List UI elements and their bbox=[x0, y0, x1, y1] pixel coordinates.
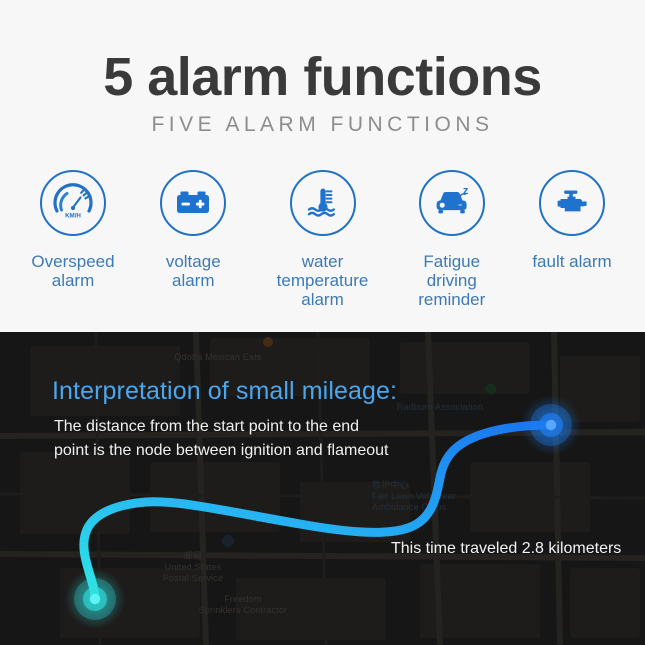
battery-minus-symbol bbox=[182, 203, 190, 206]
feature-fault-alarm[interactable]: fault alarm bbox=[513, 170, 631, 271]
route-end-marker[interactable] bbox=[521, 395, 581, 455]
page-subtitle: FIVE ALARM FUNCTIONS bbox=[0, 112, 645, 138]
route-start-marker[interactable] bbox=[65, 569, 125, 629]
alarm-functions-section: 5 alarm functions FIVE ALARM FUNCTIONS bbox=[0, 0, 645, 332]
feature-overspeed-alarm[interactable]: KM/H Overspeed alarm bbox=[14, 170, 132, 290]
speedometer-icon: KM/H bbox=[40, 170, 106, 236]
water-temperature-icon bbox=[290, 170, 356, 236]
fatigue-car-icon: z bbox=[419, 170, 485, 236]
engine-fault-icon bbox=[539, 170, 605, 236]
feature-water-temperature-alarm[interactable]: water temperature alarm bbox=[255, 170, 391, 309]
page-title: 5 alarm functions bbox=[0, 46, 645, 108]
feature-label: Fatigue driving reminder bbox=[418, 252, 485, 309]
feature-fatigue-driving-reminder[interactable]: z Fatigue driving reminder bbox=[393, 170, 511, 309]
mileage-panel-title: Interpretation of small mileage: bbox=[52, 376, 397, 406]
promo-page: 5 alarm functions FIVE ALARM FUNCTIONS bbox=[0, 0, 645, 645]
feature-label: Overspeed alarm bbox=[31, 252, 114, 290]
mileage-panel-description: The distance from the start point to the… bbox=[54, 415, 388, 463]
mileage-map-section: Qdoba Mexican Eats Radburn Association 救… bbox=[0, 332, 645, 645]
feature-voltage-alarm[interactable]: voltage alarm bbox=[134, 170, 252, 290]
sleep-z-glyph: z bbox=[463, 185, 469, 197]
feature-icon-row: KM/H Overspeed alarm vol bbox=[0, 170, 645, 315]
speedometer-unit-text: KM/H bbox=[65, 212, 81, 219]
battery-plus-symbol-v bbox=[199, 200, 202, 208]
distance-traveled-note: This time traveled 2.8 kilometers bbox=[391, 539, 621, 559]
feature-label: fault alarm bbox=[532, 252, 611, 271]
feature-label: water temperature alarm bbox=[277, 252, 369, 309]
feature-label: voltage alarm bbox=[166, 252, 221, 290]
battery-icon bbox=[160, 170, 226, 236]
